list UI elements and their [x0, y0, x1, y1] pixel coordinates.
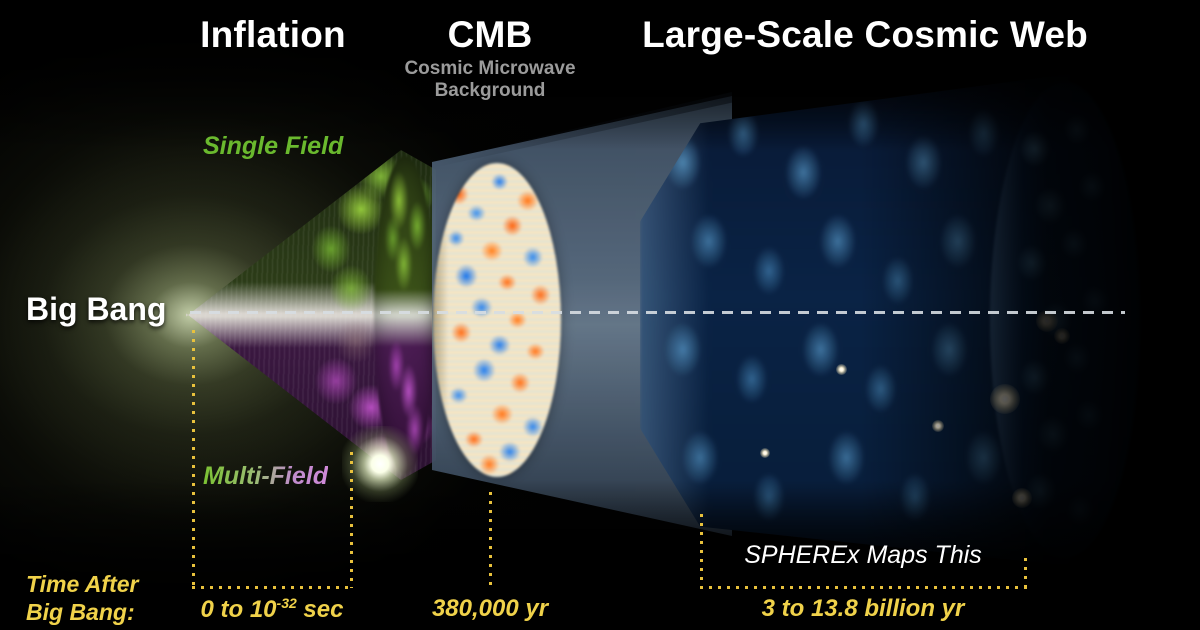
cmb-map-ellipse	[433, 163, 561, 477]
galaxy-cluster-star	[836, 364, 847, 375]
header-cmb: CMB	[410, 14, 570, 56]
inflation-time-exponent: -32	[277, 595, 297, 611]
timeline-value-inflation: 0 to 10-32 sec	[193, 595, 351, 624]
web-bracket-horizontal	[700, 586, 1027, 589]
header-inflation: Inflation	[193, 14, 353, 56]
dashed-axis-line-icon	[190, 311, 1125, 314]
inflation-cone	[186, 150, 436, 480]
cosmic-timeline-infographic: Inflation CMB Large-Scale Cosmic Web Cos…	[0, 0, 1200, 630]
right-vignette	[860, 0, 1200, 630]
label-big-bang: Big Bang	[26, 291, 166, 328]
timeline-value-cosmic-web: 3 to 13.8 billion yr	[700, 595, 1026, 623]
bracket-right-vertical	[350, 452, 353, 588]
bracket-left-vertical	[192, 330, 195, 588]
bracket-horizontal	[192, 586, 353, 589]
timeline-value-cmb: 380,000 yr	[411, 595, 569, 623]
label-multi-field: Multi-Field	[203, 462, 328, 491]
label-single-field: Single Field	[203, 132, 343, 161]
galaxy-cluster-star	[760, 448, 770, 458]
inflation-time-prefix: 0 to 10	[201, 596, 277, 623]
header-large-scale-cosmic-web: Large-Scale Cosmic Web	[615, 14, 1115, 56]
cmb-tick-line	[489, 492, 492, 588]
subtitle-cmb: Cosmic Microwave Background	[380, 58, 600, 103]
inflation-time-suffix: sec	[297, 596, 344, 623]
timeline-axis-title: Time After Big Bang:	[26, 570, 138, 626]
label-spherex-maps-this: SPHEREx Maps This	[700, 541, 1026, 570]
